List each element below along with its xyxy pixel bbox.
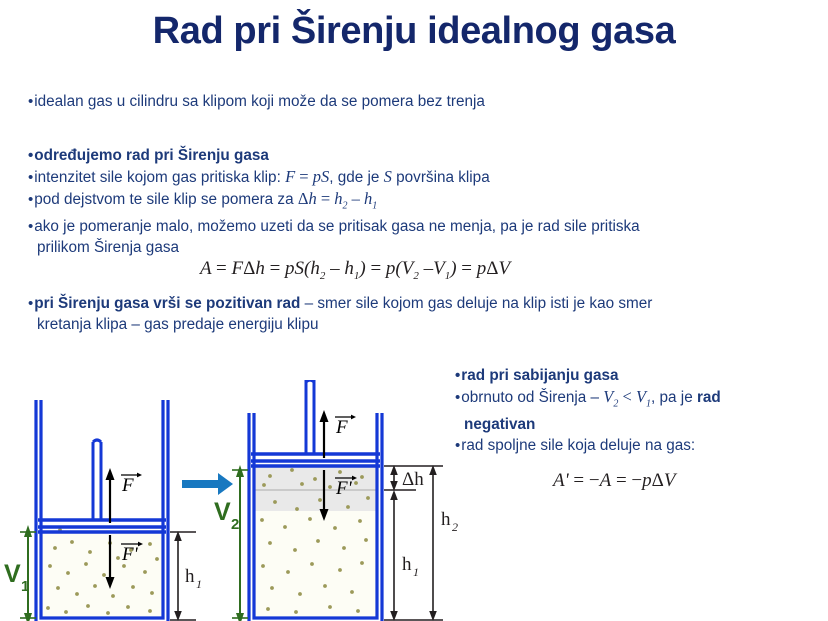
math-pS: pS: [313, 167, 330, 186]
equation-work-expansion: A = FΔh = pS(h2 – h1) = p(V2 –V1) = pΔV: [200, 258, 510, 282]
left-volume-label: V: [4, 560, 21, 588]
right-force-down-label: F': [335, 478, 353, 499]
left-force-up-vector-tip: [137, 473, 142, 478]
left-force-up-label: F: [121, 475, 134, 496]
bullet-intro: idealan gas u cilindru sa klipom koji mo…: [28, 91, 628, 112]
right-piston-rod: [306, 380, 314, 455]
bullet-group-compression: rad pri sabijanju gasa obrnuto od Širenj…: [455, 365, 825, 456]
bullet-compression-detail-l2: negativan: [455, 414, 825, 435]
math-delta-h: Δh = h2 – h1: [298, 189, 377, 208]
right-force-up-label: F: [335, 417, 348, 438]
bullet-positive-work-l1: pri Širenju gasa vrši se pozitivan rad –…: [28, 293, 818, 314]
left-cylinder-group: F F' V: [4, 400, 202, 621]
right-delta-h-label: Δh: [402, 469, 424, 490]
left-force-down-label: F': [121, 544, 139, 565]
left-piston-rod: [93, 440, 101, 521]
right-volume-dimension: [232, 465, 248, 621]
right-force-up-arrow: [320, 410, 329, 458]
bullet-compression-title: rad pri sabijanju gasa: [455, 365, 825, 386]
math-F: F: [285, 167, 295, 186]
right-h1-dimension: [390, 490, 398, 621]
right-piston: [251, 454, 380, 466]
bullet-displacement: pod dejstvom te sile klip se pomera za Δ…: [28, 188, 818, 216]
bullet-external-force-work: rad spoljne sile koja deluje na gas:: [455, 435, 825, 456]
bullet-determine: određujemo rad pri Širenju gasa: [28, 145, 818, 166]
bullet-group-positive-work: pri Širenju gasa vrši se pozitivan rad –…: [28, 293, 818, 335]
right-volume-label: V: [214, 498, 231, 526]
bullet-positive-work-l2: kretanja klipa – gas predaje energiju kl…: [28, 314, 818, 335]
right-cylinder-group: F F' V: [214, 380, 458, 621]
left-piston: [38, 520, 166, 532]
bullet-group-expansion: određujemo rad pri Širenju gasa intenzit…: [28, 145, 818, 258]
math-v2-lt-v1: V2 < V1: [603, 387, 651, 406]
bullet-small-displacement-l2: prilikom Širenja gasa: [28, 237, 818, 258]
right-force-up-vector-tip: [351, 415, 356, 420]
left-height-label-sub: 1: [196, 577, 202, 591]
page-title: Rad pri Širenju idealnog gasa: [0, 10, 828, 53]
bullet-force-intensity: intenzitet sile kojom gas pritiska klip:…: [28, 166, 818, 188]
left-volume-label-sub: 1: [21, 578, 29, 595]
right-volume-label-sub: 2: [231, 516, 239, 533]
slide-canvas: Rad pri Širenju idealnog gasa idealan ga…: [0, 0, 828, 621]
left-height-label: h: [185, 566, 195, 587]
piston-diagram: F F' V: [0, 380, 460, 621]
equation-work-compression: A' = −A = −pΔV: [553, 470, 675, 492]
right-h2-label-sub: 2: [452, 520, 458, 534]
math-S: S: [384, 167, 392, 186]
bullet-small-displacement-l1: ako je pomeranje malo, možemo uzeti da s…: [28, 216, 818, 237]
right-h1-label-sub: 1: [413, 565, 419, 579]
transition-arrow-icon: [182, 473, 233, 495]
bullet-compression-detail: obrnuto od Širenja – V2 < V1, pa je rad: [455, 386, 825, 414]
right-h2-label: h: [441, 509, 451, 530]
bullet-intro-text: idealan gas u cilindru sa klipom koji mo…: [34, 93, 485, 110]
right-h1-label: h: [402, 554, 412, 575]
right-h2-dimension: [429, 465, 437, 621]
right-delta-h-dimension: [390, 465, 398, 491]
left-gas-region: [41, 533, 163, 618]
left-volume-dimension: [20, 525, 36, 621]
left-force-up-arrow: [106, 468, 115, 523]
